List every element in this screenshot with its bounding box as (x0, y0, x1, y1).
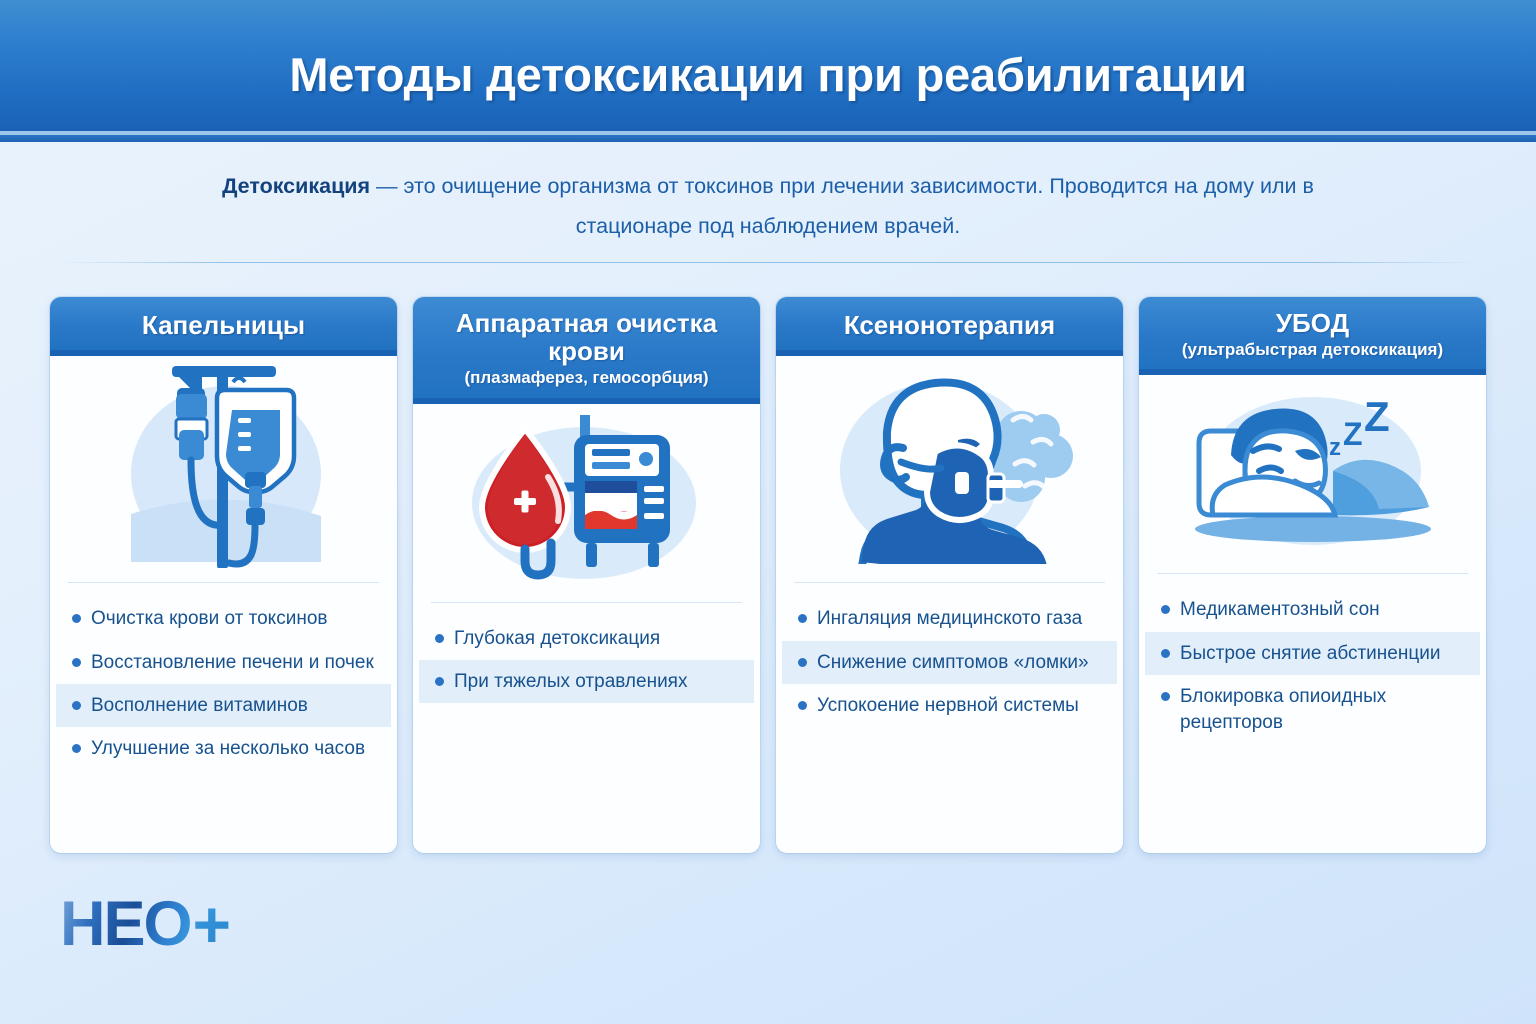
list-item[interactable]: Успокоение нервной системы (782, 684, 1117, 727)
bullet-dot-icon (1161, 649, 1170, 658)
method-card-apparatus[interactable]: Аппаратная очистка крови (плазмаферез, г… (413, 297, 760, 853)
list-item-label: Восстановление печени и почек (91, 650, 377, 675)
page-title: Методы детоксикации при реабилитации (0, 47, 1536, 102)
bullet-dot-icon (798, 658, 807, 667)
list-item[interactable]: Восстановление печени и почек (56, 641, 391, 684)
list-item-label: Восполнение витаминов (91, 693, 377, 718)
list-item[interactable]: При тяжелых отравлениях (419, 660, 754, 703)
bullet-dot-icon (435, 677, 444, 686)
list-item[interactable]: Блокировка опиоидных рецепторов (1145, 675, 1480, 744)
list-item[interactable]: Медикаментозный сон (1145, 588, 1480, 631)
bullet-dot-icon (1161, 692, 1170, 701)
brand-logo-plus-icon: + (193, 891, 232, 957)
card-title: УБОД (1147, 309, 1478, 337)
intro-divider (58, 262, 1478, 263)
icon-zone-ubod: z Z Z (1139, 375, 1486, 573)
icon-zone-apparatus (413, 404, 760, 602)
header-stripe-dark (0, 135, 1536, 142)
bullet-dot-icon (72, 658, 81, 667)
list-item-label: Успокоение нервной системы (817, 693, 1103, 718)
bullet-dot-icon (72, 701, 81, 710)
bullet-dot-icon (798, 701, 807, 710)
icon-zone-xenon (776, 356, 1123, 582)
list-item[interactable]: Ингаляция медицинското газа (782, 597, 1117, 640)
method-card-drip[interactable]: Капельницы (50, 297, 397, 853)
benefit-list-apparatus: Глубокая детоксикация При тяжелых отравл… (413, 603, 760, 853)
iv-drip-icon (116, 364, 331, 574)
zzz-small: z (1329, 434, 1341, 461)
bullet-dot-icon (1161, 605, 1170, 614)
list-item-label: При тяжелых отравлениях (454, 669, 740, 694)
list-item-label: Снижение симптомов «ломки» (817, 650, 1103, 675)
list-item[interactable]: Восполнение витаминов (56, 684, 391, 727)
list-item-label: Ингаляция медицинското газа (817, 606, 1103, 631)
card-subtitle: (плазмаферез, гемосорбция) (421, 368, 752, 388)
card-header-drip: Капельницы (50, 297, 397, 356)
brand-logo[interactable]: НЕО + (60, 893, 231, 955)
list-item-label: Очистка крови от токсинов (91, 606, 377, 631)
oxygen-mask-head-icon (825, 374, 1075, 564)
benefit-list-drip: Очистка крови от токсинов Восстановление… (50, 583, 397, 853)
card-title: Аппаратная очистка крови (421, 309, 752, 365)
blood-purification-machine-icon (462, 415, 712, 590)
bullet-dot-icon (435, 634, 444, 643)
intro-body-text: — это очищение организма от токсинов при… (370, 174, 1314, 238)
list-item-label: Блокировка опиоидных рецепторов (1180, 684, 1466, 735)
list-item[interactable]: Улучшение за несколько часов (56, 727, 391, 770)
list-item[interactable]: Глубокая детоксикация (419, 617, 754, 660)
benefit-list-xenon: Ингаляция медицинското газа Снижение сим… (776, 583, 1123, 853)
method-cards-row: Капельницы (50, 297, 1486, 853)
zzz-large: Z (1364, 393, 1390, 440)
method-card-xenon[interactable]: Ксенонотерапия (776, 297, 1123, 853)
card-title: Ксенонотерапия (786, 311, 1113, 339)
card-title: Капельницы (60, 311, 387, 339)
list-item-label: Глубокая детоксикация (454, 626, 740, 651)
intro-lead-term: Детоксикация (222, 174, 370, 198)
icon-zone-drip (50, 356, 397, 582)
card-header-ubod: УБОД (ультрабыстрая детоксикация) (1139, 297, 1486, 375)
intro-paragraph: Детоксикация — это очищение организма от… (168, 166, 1368, 246)
zzz-medium: Z (1343, 416, 1363, 452)
bullet-dot-icon (72, 614, 81, 623)
list-item-label: Улучшение за несколько часов (91, 736, 377, 761)
brand-logo-text: НЕО (60, 893, 191, 956)
list-item[interactable]: Очистка крови от токсинов (56, 597, 391, 640)
benefit-list-ubod: Медикаментозный сон Быстрое снятие абсти… (1139, 574, 1486, 853)
card-header-xenon: Ксенонотерапия (776, 297, 1123, 356)
card-subtitle: (ультрабыстрая детоксикация) (1147, 340, 1478, 360)
method-card-ubod[interactable]: УБОД (ультрабыстрая детоксикация) (1139, 297, 1486, 853)
bullet-dot-icon (72, 744, 81, 753)
list-item-label: Быстрое снятие абстиненции (1180, 641, 1466, 666)
list-item[interactable]: Снижение симптомов «ломки» (782, 641, 1117, 684)
bullet-dot-icon (798, 614, 807, 623)
list-item[interactable]: Быстрое снятие абстиненции (1145, 632, 1480, 675)
list-item-label: Медикаментозный сон (1180, 597, 1466, 622)
card-header-apparatus: Аппаратная очистка крови (плазмаферез, г… (413, 297, 760, 404)
sleeping-patient-icon: z Z Z (1183, 389, 1443, 559)
